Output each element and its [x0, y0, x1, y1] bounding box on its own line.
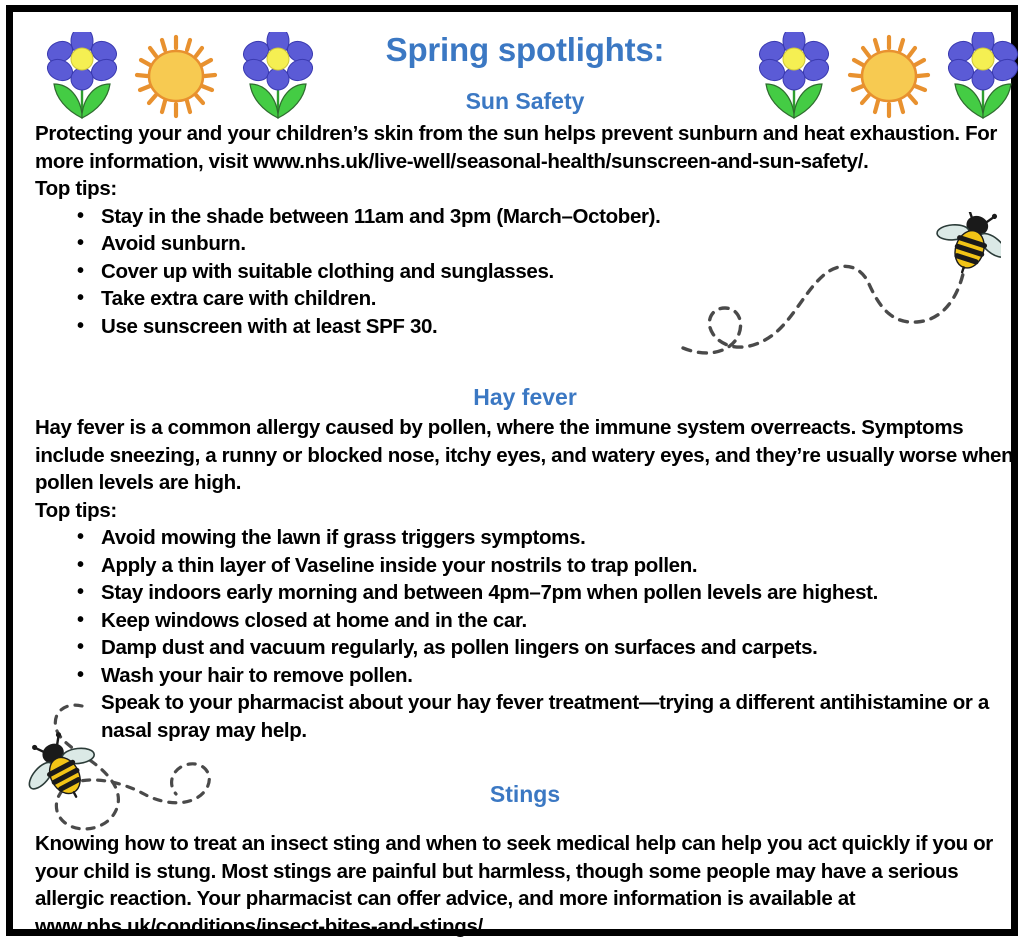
list-item: •Avoid mowing the lawn if grass triggers…: [35, 524, 1015, 552]
bee-with-trail-decoration: [26, 700, 256, 850]
tips-label: Top tips:: [35, 175, 1015, 203]
poster-page: Spring spotlights: Sun Safety Protecting…: [0, 0, 1024, 941]
bullet-icon: •: [77, 230, 84, 258]
bullet-icon: •: [77, 285, 84, 313]
section-heading-stings: Stings: [26, 779, 1024, 809]
list-item: •Stay indoors early morning and between …: [35, 579, 1015, 607]
list-item-label: Damp dust and vacuum regularly, as polle…: [101, 636, 818, 659]
bullet-icon: •: [77, 607, 84, 635]
section-heading-sun-safety: Sun Safety: [26, 86, 1024, 116]
list-item: •Damp dust and vacuum regularly, as poll…: [35, 634, 1015, 662]
list-item: •Wash your hair to remove pollen.: [35, 662, 1015, 690]
list-item-label: Stay in the shade between 11am and 3pm (…: [101, 205, 660, 228]
list-item: •Apply a thin layer of Vaseline inside y…: [35, 552, 1015, 580]
bullet-icon: •: [77, 524, 84, 552]
section-paragraph: Knowing how to treat an insect sting and…: [35, 830, 1015, 940]
bullet-icon: •: [77, 634, 84, 662]
bullet-icon: •: [77, 662, 84, 690]
bullet-icon: •: [77, 552, 84, 580]
bullet-icon: •: [77, 258, 84, 286]
section-stings: Knowing how to treat an insect sting and…: [35, 830, 1015, 940]
section-paragraph: Protecting your and your children’s skin…: [35, 120, 1015, 175]
bullet-icon: •: [77, 203, 84, 231]
list-item-label: Apply a thin layer of Vaseline inside yo…: [101, 554, 697, 577]
tips-label: Top tips:: [35, 497, 1015, 525]
list-item-label: Avoid sunburn.: [101, 232, 246, 255]
list-item-label: Keep windows closed at home and in the c…: [101, 609, 527, 632]
section-heading-hay-fever: Hay fever: [26, 382, 1024, 412]
bee-with-trail-decoration: [681, 212, 1001, 362]
poster-border: Spring spotlights: Sun Safety Protecting…: [6, 5, 1018, 936]
section-hay-fever: Hay fever is a common allergy caused by …: [35, 414, 1015, 744]
list-item-label: Use sunscreen with at least SPF 30.: [101, 315, 437, 338]
bullet-icon: •: [77, 313, 84, 341]
list-item: •Keep windows closed at home and in the …: [35, 607, 1015, 635]
section-paragraph: Hay fever is a common allergy caused by …: [35, 414, 1015, 497]
list-item-label: Avoid mowing the lawn if grass triggers …: [101, 526, 585, 549]
list-item-label: Cover up with suitable clothing and sung…: [101, 260, 554, 283]
list-item-label: Wash your hair to remove pollen.: [101, 664, 413, 687]
list-item-label: Take extra care with children.: [101, 287, 376, 310]
bullet-icon: •: [77, 579, 84, 607]
list-item-label: Stay indoors early morning and between 4…: [101, 581, 878, 604]
poster-content: Spring spotlights: Sun Safety Protecting…: [26, 24, 1024, 941]
page-title: Spring spotlights:: [26, 30, 1024, 70]
